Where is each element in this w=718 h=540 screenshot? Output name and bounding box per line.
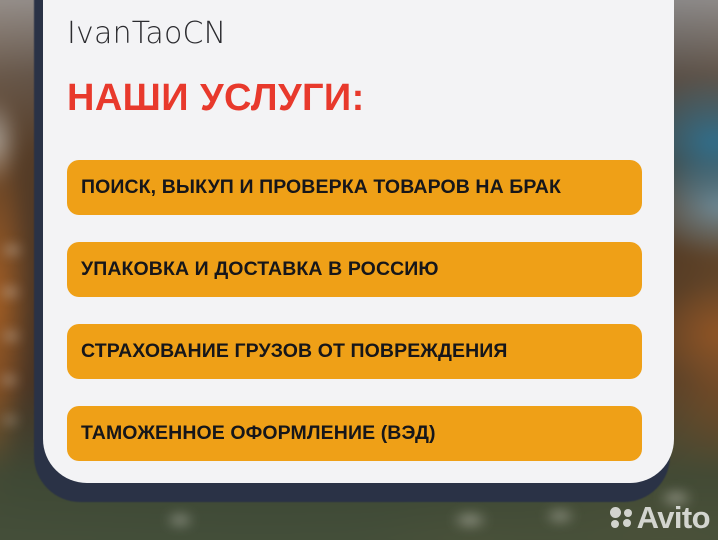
service-pill-label: ПОИСК, ВЫКУП И ПРОВЕРКА ТОВАРОВ НА БРАК (81, 176, 561, 199)
service-pill-cargo-insurance[interactable]: СТРАХОВАНИЕ ГРУЗОВ ОТ ПОВРЕЖДЕНИЯ (67, 324, 642, 379)
service-pill-customs-clearance[interactable]: ТАМОЖЕННОЕ ОФОРМЛЕНИЕ (ВЭД) (67, 406, 642, 461)
service-pill-label: ТАМОЖЕННОЕ ОФОРМЛЕНИЕ (ВЭД) (81, 422, 436, 445)
service-pill-packing-delivery[interactable]: УПАКОВКА И ДОСТАВКА В РОССИЮ (67, 242, 642, 297)
poster-canvas: IvanTaoCN НАШИ УСЛУГИ: ПОИСК, ВЫКУП И ПР… (0, 0, 718, 540)
brand-logo: IvanTaoCN (67, 16, 226, 51)
services-list: ПОИСК, ВЫКУП И ПРОВЕРКА ТОВАРОВ НА БРАК … (67, 160, 642, 461)
service-pill-search-purchase-inspection[interactable]: ПОИСК, ВЫКУП И ПРОВЕРКА ТОВАРОВ НА БРАК (67, 160, 642, 215)
service-pill-label: СТРАХОВАНИЕ ГРУЗОВ ОТ ПОВРЕЖДЕНИЯ (81, 340, 508, 363)
avito-watermark: Avito (610, 502, 710, 533)
page-title: НАШИ УСЛУГИ: (67, 77, 365, 120)
service-pill-label: УПАКОВКА И ДОСТАВКА В РОССИЮ (81, 258, 439, 281)
avito-watermark-label: Avito (637, 502, 710, 533)
avito-dots-icon (610, 507, 633, 528)
content-card: IvanTaoCN НАШИ УСЛУГИ: ПОИСК, ВЫКУП И ПР… (43, 0, 674, 483)
